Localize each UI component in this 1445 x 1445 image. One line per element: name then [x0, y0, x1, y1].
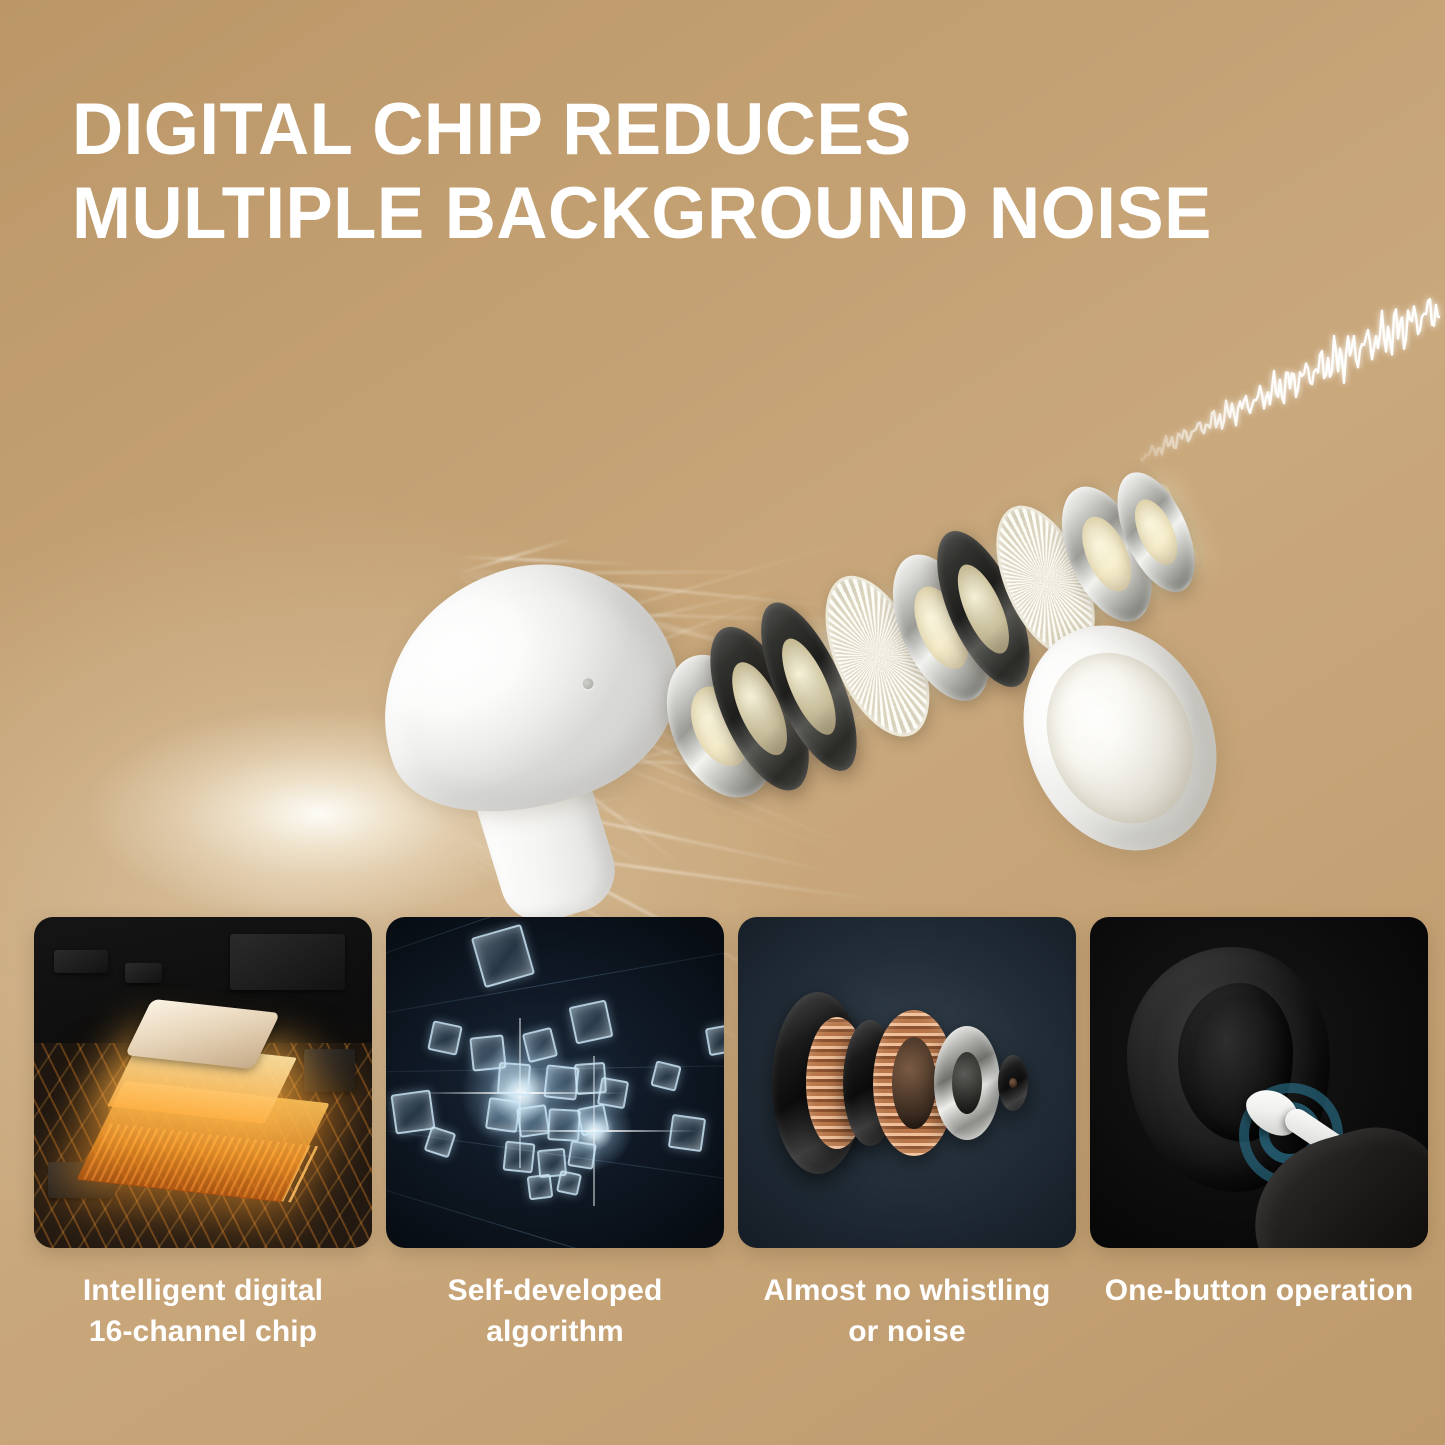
feature-card-row: Intelligent digital 16-channel chip Self…: [34, 917, 1411, 1352]
caption-line-1: Intelligent digital: [34, 1270, 372, 1311]
no-whistling-thumbnail[interactable]: [738, 917, 1076, 1248]
exploded-driver-assembly: [593, 334, 1330, 904]
glass-cube-icon: [705, 1024, 724, 1056]
glass-cube-icon: [650, 1060, 682, 1092]
grid-line: [386, 917, 724, 944]
glass-cube-icon: [496, 1062, 530, 1096]
feature-caption: Intelligent digital 16-channel chip: [34, 1270, 372, 1352]
caption-line-1: Almost no whistling: [738, 1270, 1076, 1311]
driver-rings: [593, 334, 1196, 602]
glass-cube-icon: [556, 1170, 582, 1196]
glass-cube-icon: [471, 924, 535, 988]
product-feature-page: DIGITAL CHIP REDUCES MULTIPLE BACKGROUND…: [0, 0, 1445, 1445]
one-button-operation-thumbnail[interactable]: [1090, 917, 1428, 1248]
caption-line-2: 16-channel chip: [34, 1311, 372, 1352]
caption-line-1: Self-developed: [386, 1270, 724, 1311]
intelligent-digital-chip-thumbnail[interactable]: [34, 917, 372, 1248]
glass-cube-icon: [427, 1020, 463, 1056]
headline-line-2: MULTIPLE BACKGROUND NOISE: [72, 172, 1352, 256]
feature-card-intelligent-chip[interactable]: Intelligent digital 16-channel chip: [34, 917, 372, 1352]
caption-line-1: One-button operation: [1090, 1270, 1428, 1311]
glass-cube-icon: [568, 1000, 613, 1045]
caption-line-2: or noise: [738, 1311, 1076, 1352]
glass-cube-icon: [527, 1174, 554, 1201]
glass-cube-icon: [576, 1103, 609, 1136]
grid-line: [386, 936, 724, 1031]
feature-card-one-button[interactable]: One-button operation: [1090, 917, 1428, 1352]
glass-cube-icon: [503, 1141, 536, 1174]
feature-card-algorithm[interactable]: Self-developed algorithm: [386, 917, 724, 1352]
glass-cube-icon: [567, 1140, 597, 1170]
hero-product-stage: [0, 270, 1445, 950]
self-developed-algorithm-thumbnail[interactable]: [386, 917, 724, 1248]
caption-line-2: algorithm: [386, 1311, 724, 1352]
grid-line: [386, 917, 724, 987]
glass-cube-icon: [521, 1026, 557, 1062]
feature-caption: Almost no whistling or noise: [738, 1270, 1076, 1352]
driver-cap-disc: [998, 1055, 1028, 1111]
feature-caption: Self-developed algorithm: [386, 1270, 724, 1352]
headline-line-1: DIGITAL CHIP REDUCES: [72, 88, 1352, 172]
glass-cube-icon: [516, 1104, 550, 1138]
glass-cube-icon: [668, 1113, 706, 1151]
glass-cube-icon: [390, 1090, 435, 1135]
glass-cube-icon: [547, 1108, 581, 1142]
glass-cube-icon: [423, 1125, 456, 1158]
feature-card-no-whistling[interactable]: Almost no whistling or noise: [738, 917, 1076, 1352]
page-title: DIGITAL CHIP REDUCES MULTIPLE BACKGROUND…: [72, 88, 1352, 256]
chrome-ring: [934, 1026, 1000, 1140]
feature-caption: One-button operation: [1090, 1270, 1428, 1311]
